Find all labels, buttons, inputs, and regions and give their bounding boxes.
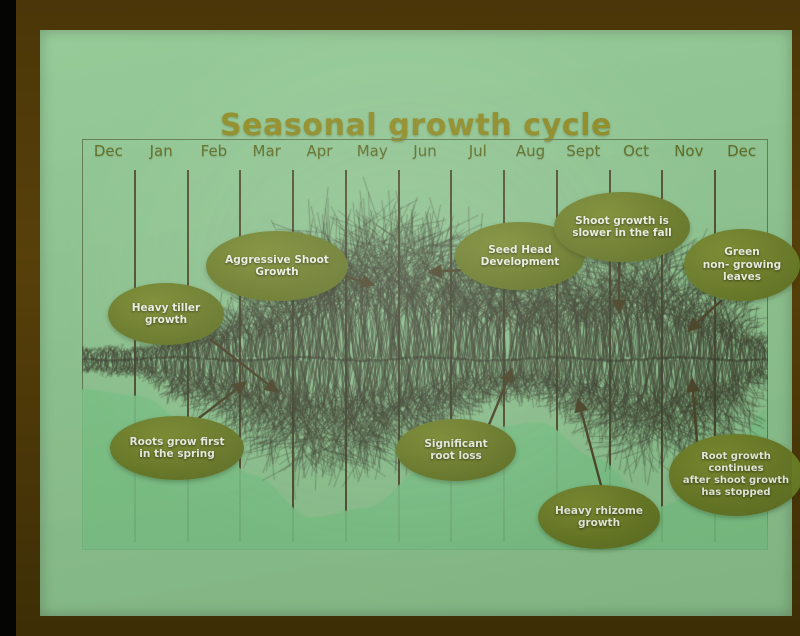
- callout-label: Shoot growth is slower in the fall: [572, 215, 672, 240]
- callout-label: Heavy tiller growth: [132, 302, 200, 327]
- callout-heavy-tiller-growth[interactable]: Heavy tiller growth: [108, 283, 224, 345]
- callout-shoot-growth-slower-fall[interactable]: Shoot growth is slower in the fall: [554, 192, 690, 262]
- callout-label: Aggressive Shoot Growth: [225, 254, 329, 279]
- projector-screen-bezel: Seasonal growth cycle DecJanFebMarAprMay…: [16, 0, 800, 636]
- slide-title: Seasonal growth cycle: [40, 108, 792, 143]
- callout-label: Root growth continues after shoot growth…: [683, 451, 789, 498]
- callout-root-growth-continues[interactable]: Root growth continues after shoot growth…: [669, 434, 800, 516]
- callout-label: Roots grow first in the spring: [130, 436, 225, 461]
- callout-label: Green non- growing leaves: [703, 246, 781, 283]
- callout-label: Significant root loss: [424, 438, 487, 463]
- presentation-slide: Seasonal growth cycle DecJanFebMarAprMay…: [40, 30, 792, 616]
- callout-green-non-growing-leaves[interactable]: Green non- growing leaves: [684, 229, 800, 301]
- callout-heavy-rhizome-growth[interactable]: Heavy rhizome growth: [538, 485, 660, 549]
- callout-label: Seed Head Development: [481, 244, 560, 269]
- screenshot-root: Seasonal growth cycle DecJanFebMarAprMay…: [0, 0, 800, 636]
- callout-roots-grow-first-spring[interactable]: Roots grow first in the spring: [110, 416, 244, 480]
- callout-significant-root-loss[interactable]: Significant root loss: [396, 419, 516, 481]
- callout-aggressive-shoot-growth[interactable]: Aggressive Shoot Growth: [206, 231, 348, 301]
- callout-label: Heavy rhizome growth: [555, 505, 643, 530]
